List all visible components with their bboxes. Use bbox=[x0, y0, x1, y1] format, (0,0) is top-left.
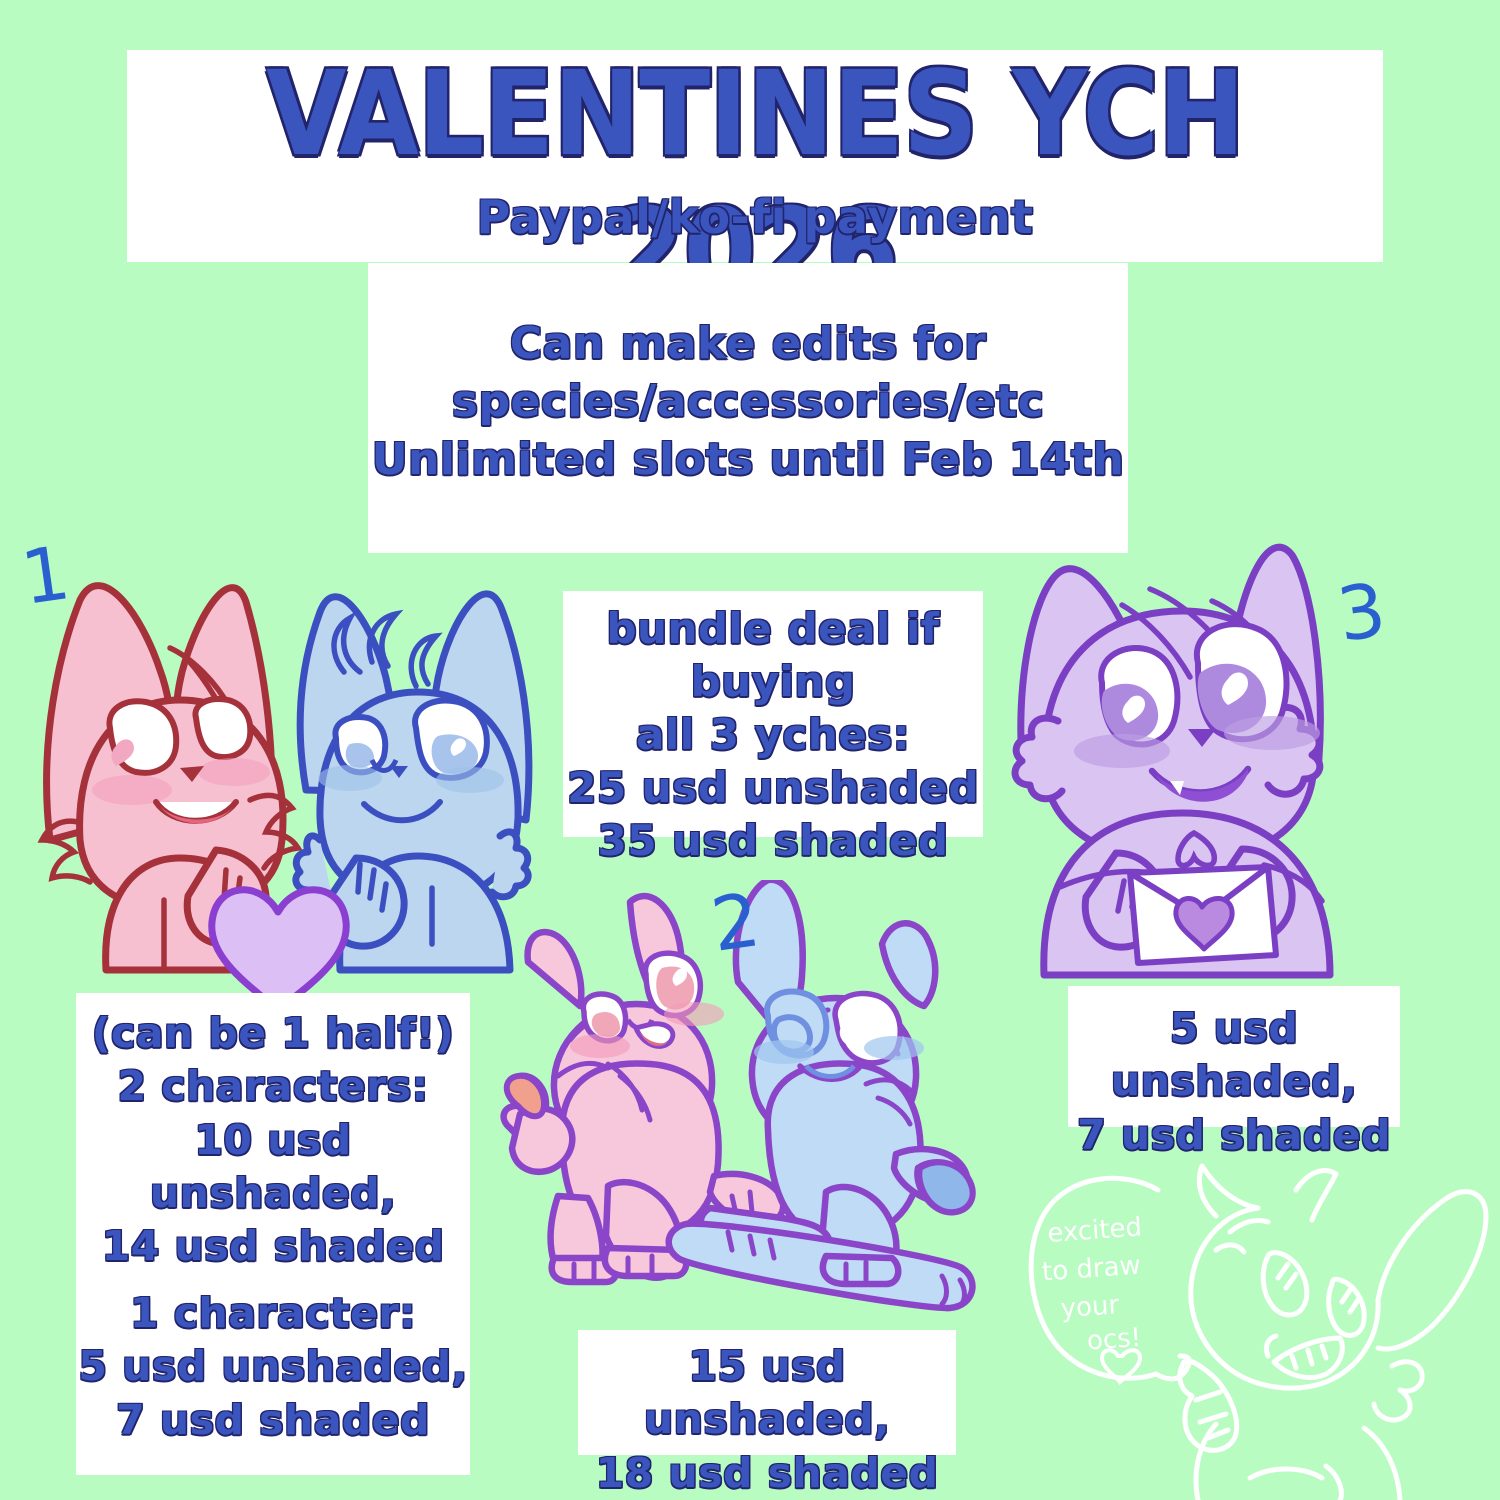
character-4-blue-tail bbox=[919, 1162, 972, 1212]
bundle-deal-panel: bundle deal if buying all 3 yches: 25 us… bbox=[563, 591, 983, 837]
sketch-line-2: to draw bbox=[1041, 1251, 1142, 1288]
sketch-eye-right bbox=[1329, 1279, 1365, 1335]
option-1-price-panel: (can be 1 half!) 2 characters: 10 usd un… bbox=[76, 993, 470, 1475]
sketch-head bbox=[1191, 1208, 1378, 1388]
poster-canvas: excited to draw your ocs! VALENTINES YCH… bbox=[0, 0, 1500, 1500]
option-3-price-panel: 5 usd unshaded, 7 usd shaded bbox=[1068, 986, 1400, 1127]
info-text: Can make edits for species/accessories/e… bbox=[368, 315, 1128, 489]
sketch-ear-right bbox=[1378, 1192, 1486, 1349]
sketch-cheek-fluff bbox=[1374, 1362, 1422, 1420]
love-letter-prop bbox=[1130, 867, 1276, 963]
sketch-line-1: excited bbox=[1046, 1212, 1143, 1249]
option-2-pricing: 15 usd unshaded, 18 usd shaded bbox=[578, 1340, 956, 1500]
heart-prop bbox=[212, 890, 346, 1010]
ych-illustration-1 bbox=[20, 540, 580, 1010]
title-panel: VALENTINES YCH 2026 Paypal/ko-fi payment bbox=[127, 50, 1383, 262]
payment-subtitle: Paypal/ko-fi payment bbox=[127, 190, 1383, 244]
sketch-line-3: your bbox=[1060, 1290, 1121, 1324]
bundle-deal-text: bundle deal if buying all 3 yches: 25 us… bbox=[563, 603, 983, 868]
option-1-two-character-pricing: (can be 1 half!) 2 characters: 10 usd un… bbox=[76, 1007, 470, 1273]
option-2-price-panel: 15 usd unshaded, 18 usd shaded bbox=[578, 1330, 956, 1455]
option-1-one-character-pricing: 1 character: 5 usd unshaded, 7 usd shade… bbox=[76, 1287, 470, 1447]
sketch-eye-left bbox=[1263, 1253, 1307, 1315]
option-3-pricing: 5 usd unshaded, 7 usd shaded bbox=[1068, 1002, 1400, 1162]
info-panel: Can make edits for species/accessories/e… bbox=[368, 263, 1128, 553]
sketch-speech-text: excited to draw your ocs! bbox=[1038, 1212, 1158, 1359]
artist-sketch-illustration: excited to draw your ocs! bbox=[1020, 1160, 1500, 1500]
